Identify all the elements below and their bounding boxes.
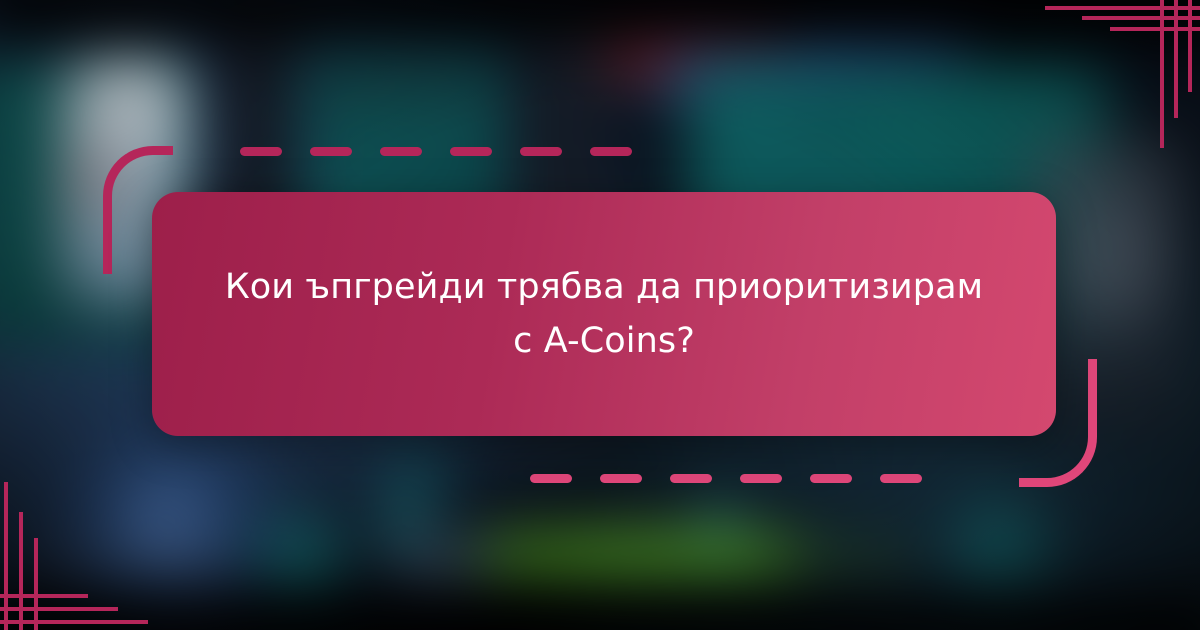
corner-line-tr-h2 (1082, 16, 1200, 20)
dash-segment (880, 474, 922, 483)
corner-line-tr-v3 (1188, 0, 1192, 92)
corner-line-bl-v2 (19, 512, 23, 630)
dash-segment (520, 147, 562, 156)
question-text: Кои ъпгрейди трябва да приоритизирам с A… (194, 260, 1014, 369)
corner-line-tr-h3 (1110, 27, 1200, 31)
corner-line-bl-v3 (34, 538, 38, 630)
dash-segment (450, 147, 492, 156)
corner-line-bl-h2 (0, 607, 118, 611)
dashed-line-top (240, 147, 632, 156)
corner-line-tr-v1 (1160, 0, 1164, 148)
social-card-image: Кои ъпгрейди трябва да приоритизирам с A… (0, 0, 1200, 630)
dash-segment (740, 474, 782, 483)
dash-segment (590, 147, 632, 156)
dash-segment (310, 147, 352, 156)
dash-segment (530, 474, 572, 483)
corner-line-bl-h3 (0, 594, 88, 598)
question-card: Кои ъпгрейди трябва да приоритизирам с A… (152, 192, 1056, 436)
dash-segment (810, 474, 852, 483)
dash-segment (380, 147, 422, 156)
dash-segment (240, 147, 282, 156)
dash-segment (670, 474, 712, 483)
dash-segment (600, 474, 642, 483)
corner-line-bl-v1 (4, 482, 8, 630)
corner-line-tr-v2 (1174, 0, 1178, 118)
dashed-line-bottom (530, 474, 922, 483)
